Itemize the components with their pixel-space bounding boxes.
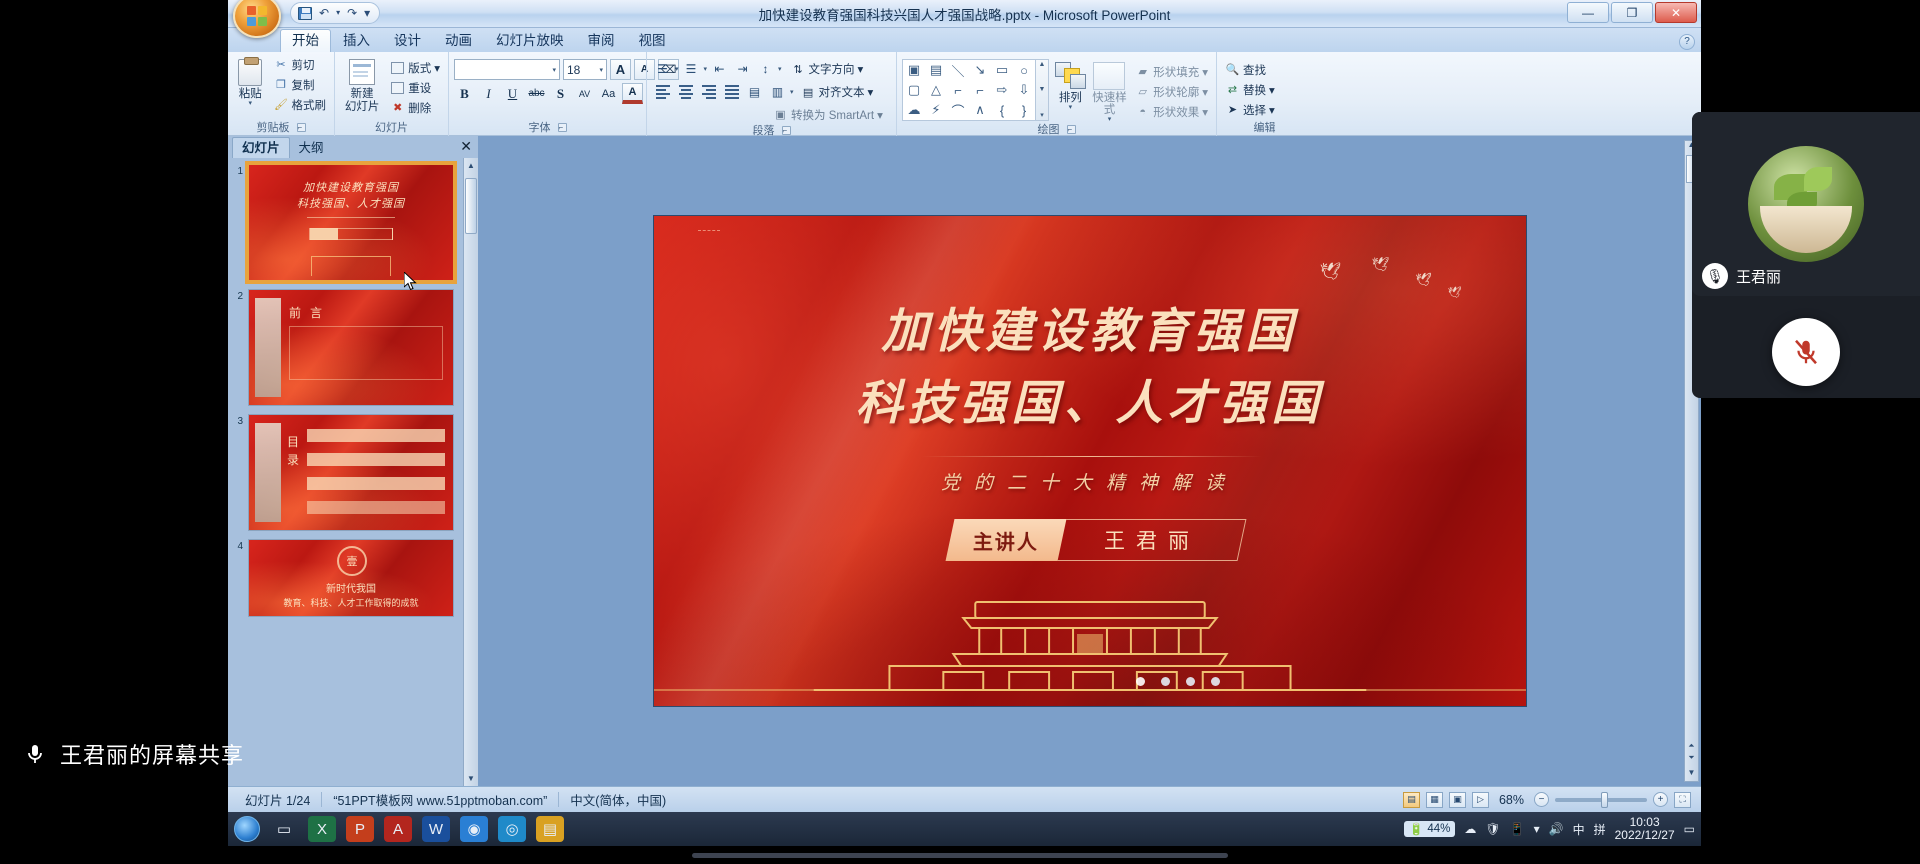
bullets-dropdown-icon[interactable]: ▾ bbox=[675, 65, 679, 73]
tray-phone-icon[interactable]: 📱 bbox=[1510, 822, 1525, 836]
thumbnail-slide-2[interactable]: 前 言 bbox=[248, 289, 454, 406]
dove-icon: 🕊 bbox=[1416, 272, 1433, 288]
paragraph-row-top: ☰ ▾ ☰ ▾ ⇤ ⇥ ↕ ▾ ⇅ 文字方向 ▾ bbox=[652, 59, 866, 79]
italic-button[interactable]: I bbox=[478, 83, 499, 104]
group-label-slides: 幻灯片 bbox=[340, 121, 443, 136]
thumbnail-title-1a: 加快建设教育强国 bbox=[249, 179, 453, 195]
drawing-label-text: 绘图 bbox=[1037, 124, 1059, 136]
new-slide-button[interactable]: 新建 幻灯片 bbox=[340, 55, 384, 113]
increase-indent-button[interactable]: ⇥ bbox=[732, 59, 753, 79]
slide-placeholder-marker bbox=[698, 230, 720, 240]
shape-fill-button[interactable]: ▰ 形状填充 ▾ bbox=[1132, 62, 1211, 81]
decrease-indent-button[interactable]: ⇤ bbox=[709, 59, 730, 79]
new-slide-label-2: 幻灯片 bbox=[345, 101, 380, 113]
cut-label: 剪切 bbox=[292, 57, 315, 73]
pane-tab-outline[interactable]: 大纲 bbox=[290, 138, 333, 158]
shape-curve-icon[interactable]: ⌒ bbox=[947, 100, 969, 120]
progress-dot bbox=[1186, 677, 1195, 686]
progress-dot bbox=[1136, 677, 1145, 686]
shape-oval-icon[interactable]: ○ bbox=[1013, 60, 1035, 80]
normal-view-button[interactable]: ▤ bbox=[1403, 792, 1420, 808]
thumbnail-toc-bar bbox=[307, 453, 445, 466]
screen-root: ↶ ▾ ↷ ▾ 加快建设教育强国科技兴国人才强国战略.pptx - Micros… bbox=[0, 0, 1920, 864]
ribbon-group-font: ▾ 18 ▾ A A ⌫ bbox=[448, 52, 646, 136]
ime-mode[interactable]: 拼 bbox=[1594, 821, 1606, 838]
clock[interactable]: 10:03 2022/12/27 bbox=[1615, 816, 1675, 842]
slideshow-button[interactable]: ▷ bbox=[1472, 792, 1489, 808]
shape-right-arrow-icon[interactable]: ⇨ bbox=[991, 80, 1013, 100]
progress-dot bbox=[1161, 677, 1170, 686]
maximize-button[interactable]: ❐ bbox=[1611, 2, 1653, 23]
participant-video-tile[interactable]: 🎙 王君丽 bbox=[1692, 112, 1920, 296]
taskbar: ▭ X P A W ◉ ◎ ▤ 🔋 44% ☁ 🛡 📱 ▾ 🔊 中 拼 bbox=[228, 812, 1701, 846]
tray-network-icon[interactable]: ▾ bbox=[1534, 822, 1540, 836]
tray-cloud-icon[interactable]: ☁ bbox=[1464, 822, 1476, 836]
fit-to-window-button[interactable]: ⛶ bbox=[1674, 792, 1691, 808]
slide-title-line1[interactable]: 加快建设教育强国 bbox=[654, 292, 1526, 361]
copy-icon: ❐ bbox=[274, 77, 289, 92]
battery-percent: 44% bbox=[1427, 823, 1450, 835]
quick-styles-icon bbox=[1093, 61, 1125, 91]
numbering-button[interactable]: ☰ bbox=[681, 59, 702, 79]
microphone-icon[interactable] bbox=[22, 737, 48, 771]
pane-scroll-thumb[interactable] bbox=[465, 178, 477, 234]
tray-shield-icon[interactable]: 🛡 bbox=[1485, 822, 1500, 836]
pane-tab-strip: 幻灯片 大纲 ✕ bbox=[228, 136, 478, 158]
font-color-label: A bbox=[629, 86, 637, 98]
thumbnail-slide-4[interactable]: 壹 新时代我国 教育、科技、人才工作取得的成就 bbox=[248, 539, 454, 617]
scissors-icon: ✂ bbox=[274, 57, 289, 72]
font-name-combo[interactable]: ▾ bbox=[454, 59, 560, 80]
font-size-dropdown-icon[interactable]: ▾ bbox=[599, 66, 603, 74]
close-button[interactable]: ✕ bbox=[1655, 2, 1697, 23]
thumbnail-title-4b: 教育、科技、人才工作取得的成就 bbox=[249, 596, 453, 609]
thumbnail-title-1b: 科技强国、人才强国 bbox=[249, 195, 453, 211]
tray-volume-icon[interactable]: 🔊 bbox=[1549, 822, 1564, 836]
zoom-slider-thumb[interactable] bbox=[1601, 792, 1608, 808]
grow-font-label: A bbox=[616, 62, 625, 77]
delete-slide-button[interactable]: ✖ 删除 bbox=[387, 98, 443, 117]
thumbnail-item[interactable]: 1 加快建设教育强国 科技强国、人才强国 bbox=[232, 164, 478, 281]
participant-name-row: 🎙 王君丽 bbox=[1692, 256, 1920, 296]
shape-arrow-icon[interactable]: ↘ bbox=[969, 60, 991, 80]
shape-cloud-icon[interactable]: ☁ bbox=[903, 100, 925, 120]
shape-line-icon[interactable]: ＼ bbox=[947, 60, 969, 80]
paste-label: 粘贴 bbox=[239, 88, 262, 100]
layout-dropdown-icon[interactable]: ▾ bbox=[434, 61, 440, 75]
ribbon-tab-strip: 开始 插入 设计 动画 幻灯片放映 审阅 视图 ? bbox=[228, 28, 1701, 52]
window-controls: — ❐ ✕ bbox=[1567, 2, 1697, 23]
delete-icon: ✖ bbox=[390, 100, 405, 115]
align-text-label: 对齐文本 bbox=[819, 84, 865, 100]
binoculars-icon: 🔍 bbox=[1225, 62, 1240, 77]
select-dropdown-icon[interactable]: ▾ bbox=[1269, 103, 1275, 117]
shape-outline-label: 形状轮廓 bbox=[1153, 84, 1199, 100]
strikethrough-button[interactable]: abc bbox=[526, 83, 547, 104]
system-tray: 🔋 44% ☁ 🛡 📱 ▾ 🔊 中 拼 10:03 2022/12/27 ▭ bbox=[1404, 816, 1695, 842]
text-shadow-button[interactable]: S bbox=[550, 83, 571, 104]
slide-editing-stage[interactable]: 🕊 🕊 🕊 🕊 加快建设教育强国 科技强国、人才强国 党的二十大精神解读 主讲人 bbox=[478, 136, 1701, 786]
thumbnail-toc-bar bbox=[307, 501, 445, 514]
ribbon-tab-insert[interactable]: 插入 bbox=[331, 29, 382, 52]
zoom-in-button[interactable]: + bbox=[1653, 792, 1668, 807]
window-title: 加快建设教育强国科技兴国人才强国战略.pptx - Microsoft Powe… bbox=[228, 4, 1701, 24]
replace-label: 替换 bbox=[1243, 82, 1266, 98]
slide-subtitle[interactable]: 党的二十大精神解读 bbox=[654, 468, 1526, 495]
convert-smartart-button[interactable]: ▣ 转换为 SmartArt ▾ bbox=[770, 105, 886, 124]
pane-scrollbar[interactable]: ▲ ▼ bbox=[463, 158, 478, 786]
thumbnail-toc-bar bbox=[307, 429, 445, 442]
align-text-icon: ▤ bbox=[801, 85, 816, 100]
ime-language[interactable]: 中 bbox=[1573, 821, 1585, 838]
cursor-arrow-icon: ➤ bbox=[1225, 102, 1240, 117]
thumbnail-list[interactable]: 1 加快建设教育强国 科技强国、人才强国 2 bbox=[228, 158, 478, 786]
justify-button[interactable] bbox=[721, 82, 742, 102]
font-row-bottom: B I U abc S AV Aa A bbox=[454, 83, 643, 104]
font-size-combo[interactable]: 18 ▾ bbox=[563, 59, 607, 80]
shape-right-brace-icon[interactable]: } bbox=[1013, 100, 1035, 120]
bottom-scroll-thumb[interactable] bbox=[692, 853, 1228, 858]
thumbnail-slide-1[interactable]: 加快建设教育强国 科技强国、人才强国 bbox=[248, 164, 454, 281]
reset-button[interactable]: 重设 bbox=[387, 78, 443, 97]
shape-triangle-icon[interactable]: △ bbox=[925, 80, 947, 100]
notifications-icon[interactable]: ▭ bbox=[1684, 822, 1695, 836]
participant-name: 王君丽 bbox=[1736, 266, 1781, 287]
thumbnail-toc-bar bbox=[307, 477, 445, 490]
layout-icon bbox=[390, 60, 405, 75]
shapes-scroll-down-icon[interactable]: ▼ bbox=[1039, 86, 1046, 93]
shape-elbow-arrow-icon[interactable]: ⌐ bbox=[969, 80, 991, 100]
line-spacing-button[interactable]: ↕ bbox=[755, 59, 776, 79]
shapes-grid[interactable]: ▣ ▤ ＼ ↘ ▭ ○ ▢ △ ⌐ ⌐ ⇨ ⇩ ☁ bbox=[902, 59, 1036, 121]
layout-button[interactable]: 版式 ▾ bbox=[387, 58, 443, 77]
shape-effects-icon: ◓ bbox=[1135, 104, 1150, 119]
shapes-gallery[interactable]: ▣ ▤ ＼ ↘ ▭ ○ ▢ △ ⌐ ⌐ ⇨ ⇩ ☁ bbox=[902, 59, 1049, 121]
text-direction-icon: ⇅ bbox=[791, 62, 806, 77]
thumbnail-gate bbox=[311, 256, 391, 276]
speaker-label-badge: 主讲人 bbox=[945, 519, 1066, 561]
ribbon-tab-view[interactable]: 视图 bbox=[627, 29, 678, 52]
thumbnail-number: 3 bbox=[232, 414, 243, 427]
slide-scroll-down-icon[interactable]: ▼ bbox=[1685, 768, 1698, 777]
shape-down-arrow-icon[interactable]: ⇩ bbox=[1013, 80, 1035, 100]
shape-fill-label: 形状填充 bbox=[1153, 64, 1199, 80]
find-button[interactable]: 🔍 查找 bbox=[1222, 60, 1278, 79]
shape-fill-dropdown-icon[interactable]: ▾ bbox=[1202, 65, 1208, 79]
shape-elbow-connector-icon[interactable]: ⌐ bbox=[947, 80, 969, 100]
slide-title-line2[interactable]: 科技强国、人才强国 bbox=[654, 364, 1526, 433]
status-right-cluster: ▤ ▦ ▣ ▷ 68% − + ⛶ bbox=[1403, 792, 1695, 808]
next-slide-icon[interactable]: ⏷ bbox=[1685, 753, 1698, 763]
battery-icon: 🔋 bbox=[1409, 822, 1423, 836]
align-text-button[interactable]: ▤ 对齐文本 ▾ bbox=[798, 83, 877, 102]
arrange-icon bbox=[1054, 61, 1086, 91]
align-text-dropdown-icon[interactable]: ▾ bbox=[868, 85, 874, 99]
minimize-button[interactable]: — bbox=[1567, 2, 1609, 23]
arrange-dropdown-icon[interactable]: ▾ bbox=[1069, 105, 1073, 111]
thumbnail-number: 1 bbox=[232, 164, 243, 177]
font-name-dropdown-icon[interactable]: ▾ bbox=[552, 66, 556, 74]
start-button[interactable] bbox=[234, 816, 260, 842]
thumbnail-item[interactable]: 3 目 录 bbox=[232, 414, 478, 531]
font-size-value: 18 bbox=[567, 63, 580, 77]
reset-icon bbox=[390, 80, 405, 95]
thumbnail-item[interactable]: 4 壹 新时代我国 教育、科技、人才工作取得的成就 bbox=[232, 539, 478, 617]
replace-dropdown-icon[interactable]: ▾ bbox=[1269, 83, 1275, 97]
thumbnail-monument bbox=[255, 298, 281, 397]
screen-share-banner: 王君丽的屏幕共享 bbox=[0, 726, 300, 782]
select-label: 选择 bbox=[1243, 102, 1266, 118]
thumbnail-title-4a: 新时代我国 bbox=[249, 580, 453, 595]
paste-dropdown-icon[interactable]: ▾ bbox=[248, 101, 252, 107]
format-painter-label: 格式刷 bbox=[292, 97, 327, 113]
convert-smartart-label: 转换为 SmartArt bbox=[791, 107, 874, 123]
grow-font-button[interactable]: A bbox=[610, 59, 631, 80]
microphone-glyph bbox=[23, 739, 47, 769]
ribbon-tab-review[interactable]: 审阅 bbox=[576, 29, 627, 52]
align-right-button[interactable] bbox=[698, 82, 719, 102]
arrange-label: 排列 bbox=[1059, 92, 1082, 104]
leaf-icon bbox=[1804, 167, 1832, 191]
shapes-more-icon[interactable]: ▾ bbox=[1040, 111, 1044, 119]
text-direction-label: 文字方向 bbox=[809, 61, 855, 77]
paste-icon bbox=[234, 57, 266, 87]
smartart-icon: ▣ bbox=[773, 107, 788, 122]
character-spacing-label: AV bbox=[579, 89, 590, 99]
ribbon-group-slides: 新建 幻灯片 版式 ▾ 重设 bbox=[334, 52, 448, 136]
paste-button[interactable]: 粘贴 ▾ bbox=[233, 55, 268, 107]
window-bottom-scrollbar[interactable] bbox=[0, 846, 1920, 864]
dove-icon: 🕊 bbox=[1372, 256, 1390, 273]
paragraph-row-bottom: ▣ 转换为 SmartArt ▾ bbox=[652, 105, 886, 124]
group-label-clipboard: 剪贴板 bbox=[233, 121, 329, 136]
shape-roundrect-icon[interactable]: ▢ bbox=[903, 80, 925, 100]
shape-rectangle-icon[interactable]: ▭ bbox=[991, 60, 1013, 80]
ribbon-group-clipboard: 粘贴 ▾ ✂ 剪切 ❐ 复制 🖌 bbox=[228, 52, 334, 136]
clock-date: 2022/12/27 bbox=[1615, 829, 1675, 842]
speaker-name-box: 王君丽 bbox=[1057, 519, 1246, 561]
numbering-dropdown-icon[interactable]: ▾ bbox=[704, 65, 708, 73]
align-center-button[interactable] bbox=[675, 82, 696, 102]
meeting-icon[interactable]: ◉ bbox=[460, 816, 488, 842]
pane-tab-slides[interactable]: 幻灯片 bbox=[232, 137, 290, 158]
group-label-font: 字体 bbox=[454, 121, 641, 136]
bowl-icon bbox=[1760, 206, 1853, 252]
work-area: 幻灯片 大纲 ✕ 1 加快建设教育强国 科技强国、人才强国 bbox=[228, 136, 1701, 786]
paragraph-row-mid: ▤ ▥ ▾ ▤ 对齐文本 ▾ bbox=[652, 82, 876, 102]
shape-effects-dropdown-icon[interactable]: ▾ bbox=[1202, 105, 1208, 119]
arrange-button[interactable]: 排列 ▾ bbox=[1054, 59, 1087, 111]
clipboard-dialog-launcher[interactable] bbox=[297, 123, 306, 132]
battery-indicator[interactable]: 🔋 44% bbox=[1404, 821, 1455, 837]
left-letterbox bbox=[0, 0, 228, 782]
explorer-icon[interactable]: ▤ bbox=[536, 816, 564, 842]
shape-lightning-icon[interactable]: ⚡ bbox=[925, 100, 947, 120]
thumbnail-monument bbox=[255, 423, 281, 522]
excel-icon[interactable]: X bbox=[308, 816, 336, 842]
mouse-cursor bbox=[404, 272, 418, 292]
thumbnail-title-3b: 录 bbox=[287, 451, 299, 468]
tiananmen-illustration bbox=[654, 594, 1526, 706]
replace-button[interactable]: ⇄ 替换 ▾ bbox=[1222, 80, 1278, 99]
select-button[interactable]: ➤ 选择 ▾ bbox=[1222, 100, 1278, 119]
avatar bbox=[1748, 146, 1864, 262]
thumbnail-number: 2 bbox=[232, 289, 243, 302]
smartart-dropdown-icon[interactable]: ▾ bbox=[877, 108, 883, 122]
copy-button[interactable]: ❐ 复制 bbox=[271, 75, 330, 94]
thumbnail-title-2: 前 言 bbox=[289, 304, 325, 321]
status-bar: 幻灯片 1/24 “51PPT模板网 www.51pptmoban.com” 中… bbox=[228, 786, 1701, 812]
line-spacing-dropdown-icon[interactable]: ▾ bbox=[778, 65, 782, 73]
wps-icon[interactable]: W bbox=[422, 816, 450, 842]
ribbon-group-paragraph: ☰ ▾ ☰ ▾ ⇤ ⇥ ↕ ▾ ⇅ 文字方向 ▾ bbox=[646, 52, 896, 136]
paragraph-dialog-launcher[interactable] bbox=[782, 126, 791, 135]
shape-textbox-icon[interactable]: ▣ bbox=[903, 60, 925, 80]
distribute-button[interactable]: ▤ bbox=[744, 82, 765, 102]
office-logo-icon bbox=[247, 6, 267, 26]
reset-label: 重设 bbox=[408, 80, 431, 96]
ribbon-tab-animations[interactable]: 动画 bbox=[433, 29, 484, 52]
find-label: 查找 bbox=[1243, 62, 1266, 78]
progress-dot bbox=[1211, 677, 1220, 686]
clipboard-label-text: 剪贴板 bbox=[256, 122, 289, 134]
shape-outline-icon: ▱ bbox=[1135, 84, 1150, 99]
format-painter-button[interactable]: 🖌 格式刷 bbox=[271, 95, 330, 114]
shape-outline-button[interactable]: ▱ 形状轮廓 ▾ bbox=[1132, 82, 1211, 101]
pdf-icon[interactable]: A bbox=[384, 816, 412, 842]
change-case-label: Aa bbox=[602, 88, 615, 100]
shape-left-brace-icon[interactable]: { bbox=[991, 100, 1013, 120]
new-slide-icon bbox=[346, 57, 378, 87]
replace-icon: ⇄ bbox=[1225, 82, 1240, 97]
shape-effects-button[interactable]: ◓ 形状效果 ▾ bbox=[1132, 102, 1211, 121]
underline-button[interactable]: U bbox=[502, 83, 523, 104]
reading-view-button[interactable]: ▣ bbox=[1449, 792, 1466, 808]
paintbrush-icon: 🖌 bbox=[274, 97, 289, 112]
thumbnail-rule bbox=[307, 217, 395, 223]
microphone-muted-icon bbox=[1791, 337, 1821, 367]
speaker-block[interactable]: 主讲人 王君丽 bbox=[950, 519, 1242, 561]
zoom-level: 68% bbox=[1495, 793, 1528, 807]
ribbon: 粘贴 ▾ ✂ 剪切 ❐ 复制 🖌 bbox=[228, 52, 1701, 136]
shape-effects-label: 形状效果 bbox=[1153, 104, 1199, 120]
cut-button[interactable]: ✂ 剪切 bbox=[271, 55, 330, 74]
dove-icon: 🕊 bbox=[1320, 262, 1342, 282]
align-left-button[interactable] bbox=[652, 82, 673, 102]
zoom-out-button[interactable]: − bbox=[1534, 792, 1549, 807]
columns-dropdown-icon[interactable]: ▾ bbox=[790, 88, 794, 96]
shape-arc-icon[interactable]: ∧ bbox=[969, 100, 991, 120]
thumbnail-title-3a: 目 bbox=[287, 433, 299, 450]
quick-styles-label: 快速样式 bbox=[1092, 92, 1128, 116]
font-label-text: 字体 bbox=[528, 122, 550, 134]
bold-button[interactable]: B bbox=[454, 83, 475, 104]
new-slide-label-1: 新建 bbox=[351, 88, 374, 100]
columns-button[interactable]: ▥ bbox=[767, 82, 788, 102]
slide-divider bbox=[922, 456, 1262, 457]
pane-scroll-down-icon[interactable]: ▼ bbox=[464, 771, 478, 786]
slide-sorter-button[interactable]: ▦ bbox=[1426, 792, 1443, 808]
current-slide[interactable]: 🕊 🕊 🕊 🕊 加快建设教育强国 科技强国、人才强国 党的二十大精神解读 主讲人 bbox=[653, 215, 1527, 707]
share-banner-text: 王君丽的屏幕共享 bbox=[60, 738, 244, 770]
task-view-icon[interactable]: ▭ bbox=[270, 816, 298, 842]
font-dialog-launcher[interactable] bbox=[558, 123, 567, 132]
mute-toggle-button[interactable] bbox=[1772, 318, 1840, 386]
ribbon-group-editing: 🔍 查找 ⇄ 替换 ▾ ➤ 选择 ▾ bbox=[1216, 52, 1312, 136]
shapes-scroll-up-icon[interactable]: ▲ bbox=[1039, 61, 1046, 68]
thumbnail-slide-3[interactable]: 目 录 bbox=[248, 414, 454, 531]
thumbnail-number: 4 bbox=[232, 539, 243, 552]
drawing-dialog-launcher[interactable] bbox=[1067, 125, 1076, 134]
character-spacing-button[interactable]: AV bbox=[574, 83, 595, 104]
meeting-overlay: 🎙 王君丽 bbox=[1692, 112, 1920, 398]
slide-thumbnail-pane: 幻灯片 大纲 ✕ 1 加快建设教育强国 科技强国、人才强国 bbox=[228, 136, 478, 786]
change-case-button[interactable]: Aa bbox=[598, 83, 619, 104]
shapes-gallery-scrollbar[interactable]: ▲ ▼ ▾ bbox=[1036, 59, 1049, 121]
speaker-name-text: 王君丽 bbox=[1103, 525, 1199, 555]
text-direction-button[interactable]: ⇅ 文字方向 ▾ bbox=[788, 60, 867, 79]
group-label-editing: 编辑 bbox=[1222, 121, 1307, 136]
edge-icon[interactable]: ◎ bbox=[498, 816, 526, 842]
powerpoint-window: ↶ ▾ ↷ ▾ 加快建设教育强国科技兴国人才强国战略.pptx - Micros… bbox=[228, 0, 1701, 846]
ribbon-group-drawing: ▣ ▤ ＼ ↘ ▭ ○ ▢ △ ⌐ ⌐ ⇨ ⇩ ☁ bbox=[896, 52, 1216, 136]
help-icon[interactable]: ? bbox=[1679, 34, 1695, 50]
powerpoint-icon[interactable]: P bbox=[346, 816, 374, 842]
pane-close-icon[interactable]: ✕ bbox=[460, 138, 472, 155]
shape-fill-icon: ▰ bbox=[1135, 64, 1150, 79]
language-indicator[interactable]: 中文(简体，中国) bbox=[559, 790, 677, 809]
font-color-button[interactable]: A bbox=[622, 83, 643, 104]
previous-slide-icon[interactable]: ⏶ bbox=[1685, 741, 1698, 751]
tiananmen-svg bbox=[654, 594, 1526, 706]
delete-label: 删除 bbox=[408, 100, 431, 116]
theme-name: “51PPT模板网 www.51pptmoban.com” bbox=[322, 790, 558, 809]
ribbon-tab-home[interactable]: 开始 bbox=[280, 29, 331, 52]
thumbnail-textframe bbox=[289, 326, 443, 380]
ribbon-tab-design[interactable]: 设计 bbox=[382, 29, 433, 52]
quick-styles-button[interactable]: 快速样式 ▾ bbox=[1092, 59, 1128, 123]
shape-textbox2-icon[interactable]: ▤ bbox=[925, 60, 947, 80]
layout-label: 版式 bbox=[408, 60, 431, 76]
thumbnail-badge-4: 壹 bbox=[337, 546, 367, 576]
ribbon-tab-slideshow[interactable]: 幻灯片放映 bbox=[484, 29, 576, 52]
slide-counter: 幻灯片 1/24 bbox=[234, 790, 321, 809]
shape-outline-dropdown-icon[interactable]: ▾ bbox=[1202, 85, 1208, 99]
bullets-button[interactable]: ☰ bbox=[652, 59, 673, 79]
speaker-label-text: 主讲人 bbox=[973, 526, 1039, 555]
text-direction-dropdown-icon[interactable]: ▾ bbox=[858, 62, 864, 76]
thumbnail-speaker-badge bbox=[309, 228, 393, 240]
title-bar: ↶ ▾ ↷ ▾ 加快建设教育强国科技兴国人才强国战略.pptx - Micros… bbox=[228, 0, 1701, 28]
pane-scroll-up-icon[interactable]: ▲ bbox=[464, 158, 478, 173]
slide-progress-dots bbox=[1136, 677, 1220, 686]
thumbnail-item[interactable]: 2 前 言 bbox=[232, 289, 478, 406]
zoom-slider[interactable] bbox=[1555, 798, 1647, 802]
microphone-icon[interactable]: 🎙 bbox=[1702, 263, 1728, 289]
copy-label: 复制 bbox=[292, 77, 315, 93]
